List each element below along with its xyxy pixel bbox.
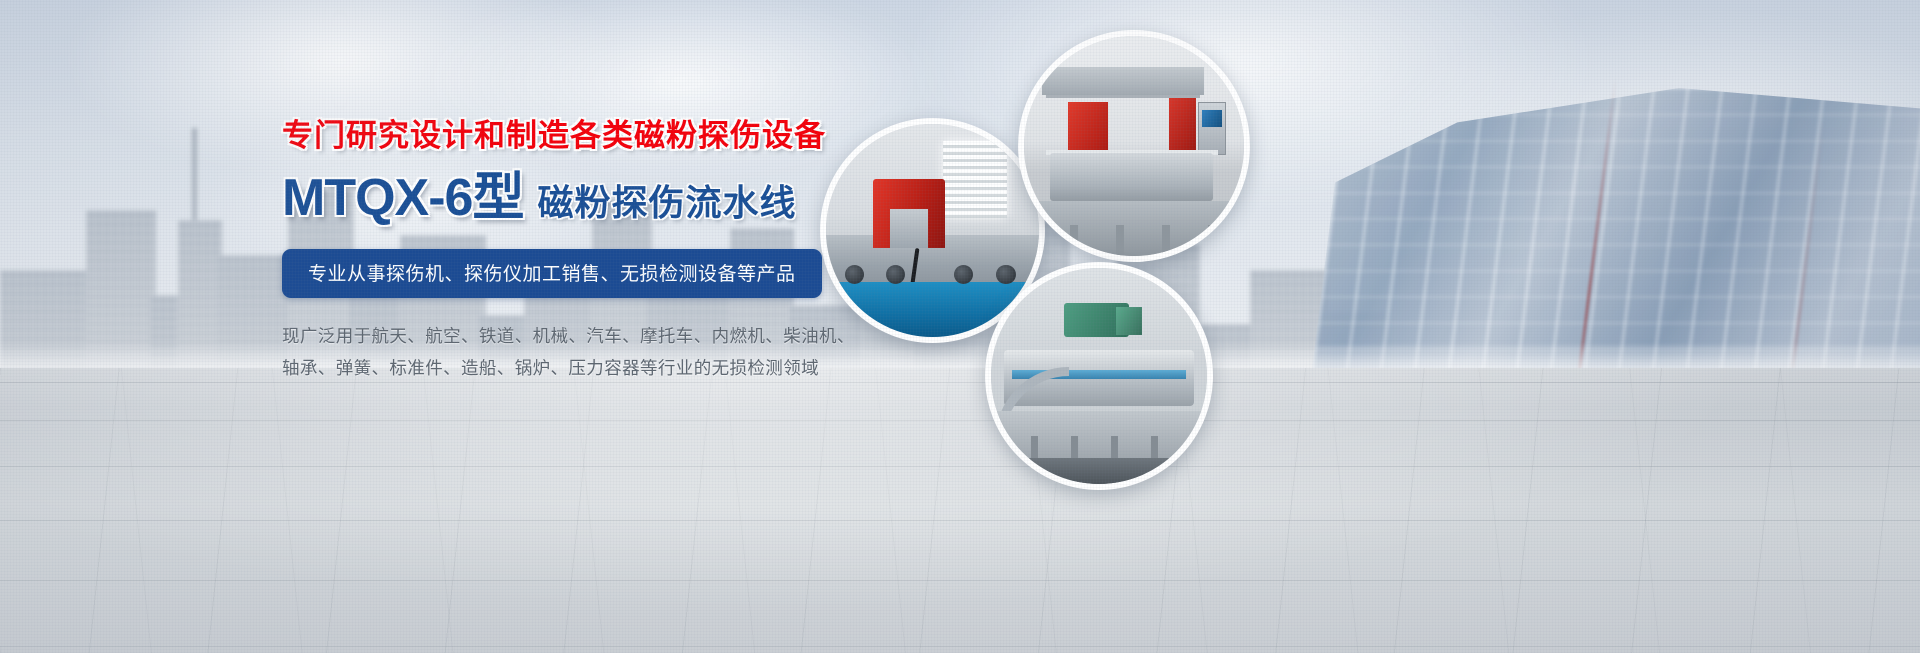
banner-headline: 专门研究设计和制造各类磁粉探伤设备 [282,118,902,155]
banner-title-product: 磁粉探伤流水线 [523,185,796,224]
description-line-2: 轴承、弹簧、标准件、造船、锅炉、压力容器等行业的无损检测领域 [282,352,902,384]
banner-copy: 专门研究设计和制造各类磁粉探伤设备 MTQX-6型 磁粉探伤流水线 专业从事探伤… [282,118,902,384]
product-photo-conveyor-production-line[interactable] [985,262,1213,490]
banner-description: 现广泛用于航天、航空、铁道、机械、汽车、摩托车、内燃机、柴油机、 轴承、弹簧、标… [282,320,902,385]
banner-title-row: MTQX-6型 磁粉探伤流水线 [282,172,902,224]
banner-title-model: MTQX-6型 [282,172,523,224]
hero-banner: 专门研究设计和制造各类磁粉探伤设备 MTQX-6型 磁粉探伤流水线 专业从事探伤… [0,0,1920,653]
product-photo-inspection-tank-with-control-panel[interactable] [1018,30,1250,262]
description-line-1: 现广泛用于航天、航空、铁道、机械、汽车、摩托车、内燃机、柴油机、 [282,320,902,352]
floor-light-glow [0,368,1920,653]
banner-tagline-pill[interactable]: 专业从事探伤机、探伤仪加工销售、无损检测设备等产品 [282,249,822,298]
